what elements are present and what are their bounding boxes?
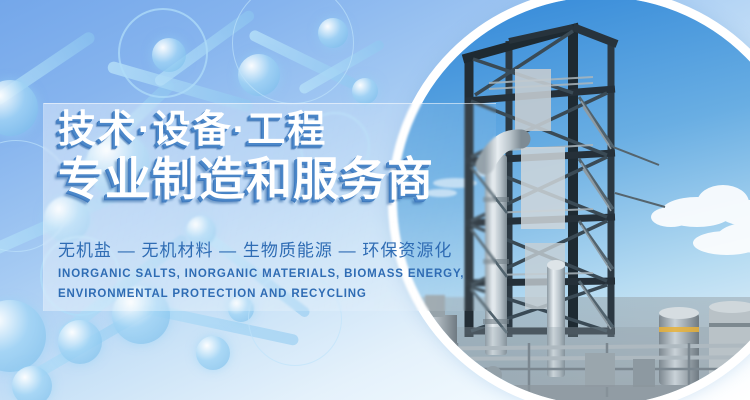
headline-group: 技术·设备·工程 专业制造和服务商 — [58, 110, 478, 205]
headline-secondary: 专业制造和服务商 — [58, 155, 478, 205]
headline-primary: 技术·设备·工程 — [58, 110, 478, 151]
subtitle-english: INORGANIC SALTS, INORGANIC MATERIALS, BI… — [58, 264, 466, 304]
subtitle-chinese: 无机盐 — 无机材料 — 生物质能源 — 环保资源化 — [58, 236, 452, 261]
hero-banner: 技术·设备·工程 专业制造和服务商 无机盐 — 无机材料 — 生物质能源 — 环… — [0, 0, 750, 400]
